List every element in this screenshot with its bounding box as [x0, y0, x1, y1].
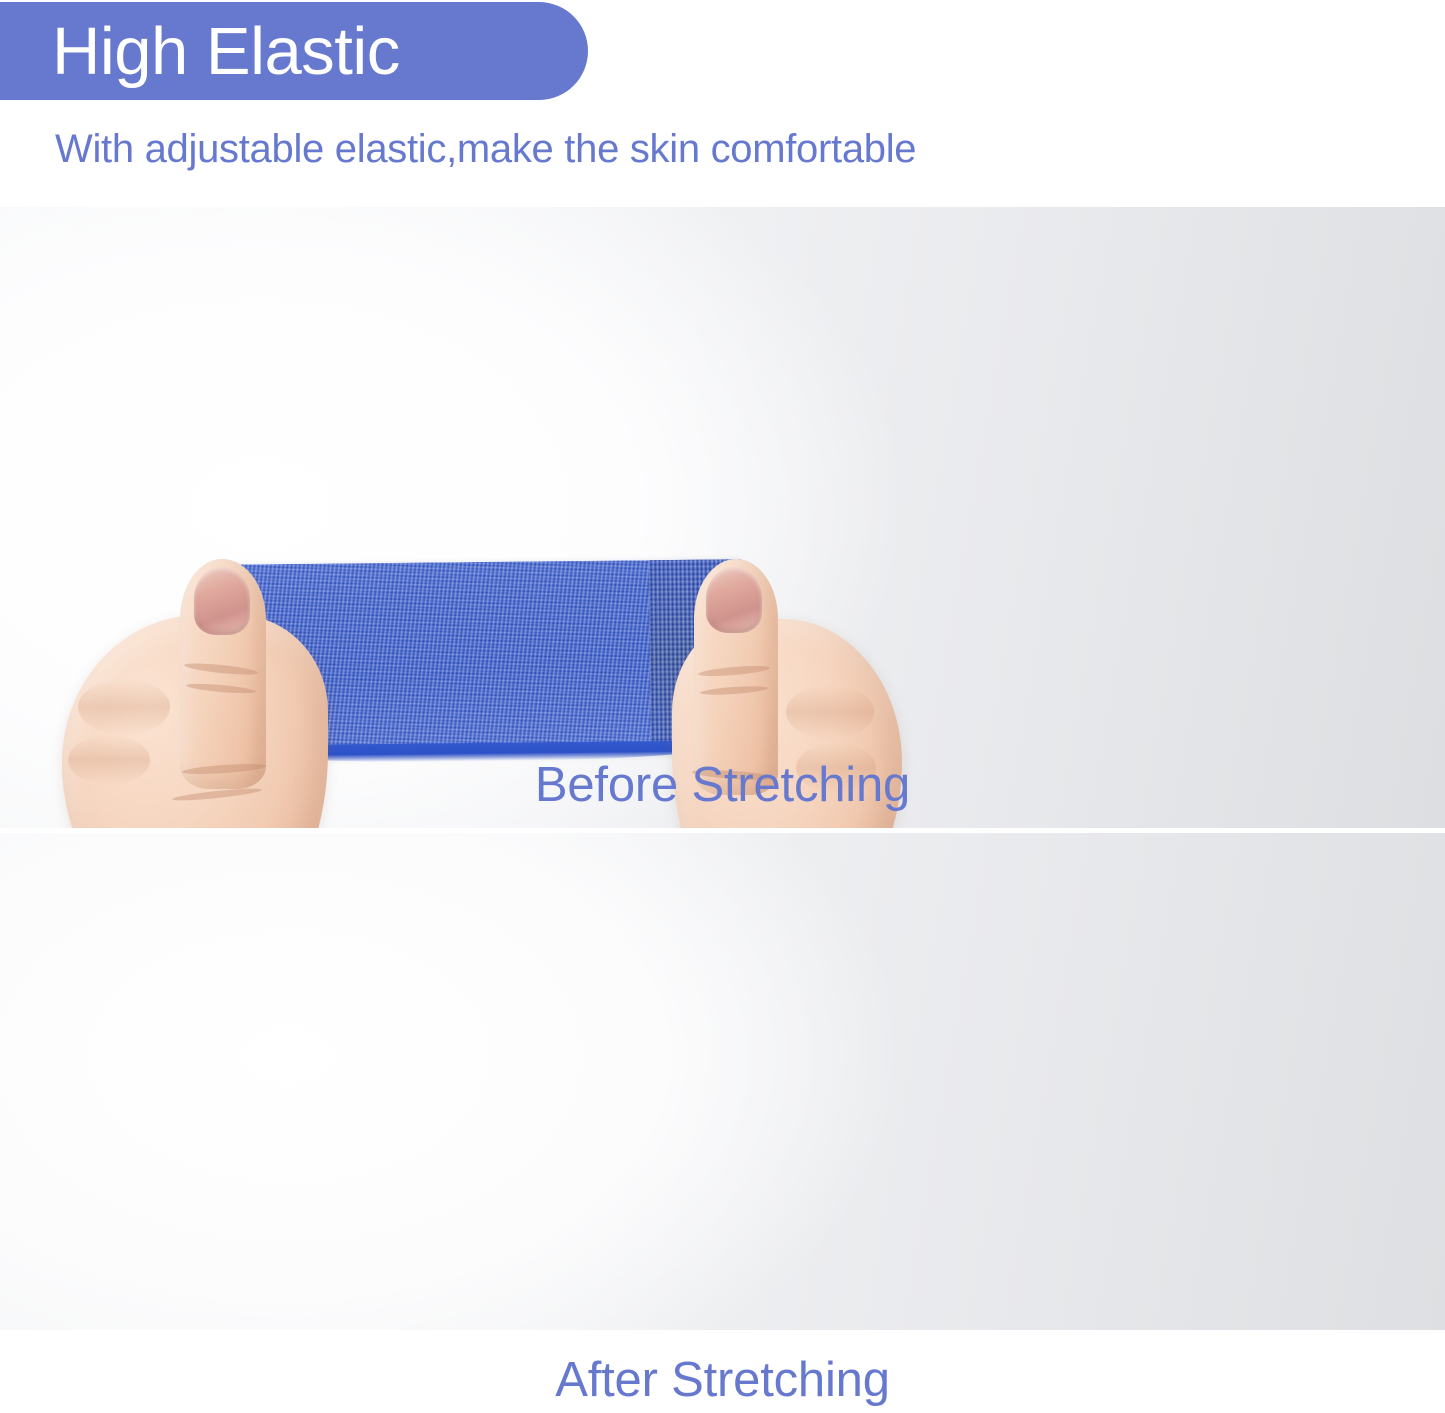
knuckle: [786, 685, 874, 739]
product-feature-image: High Elastic With adjustable elastic,mak…: [0, 0, 1445, 1413]
caption-before-stretching: Before Stretching: [0, 757, 1445, 813]
header-subtitle: With adjustable elastic,make the skin co…: [55, 126, 916, 172]
thumbnail: [706, 567, 762, 633]
page-title: High Elastic: [0, 18, 400, 85]
caption-after-stretching: After Stretching: [0, 1352, 1445, 1408]
photo-panel-after: [0, 833, 1445, 1330]
header-banner: High Elastic: [0, 2, 588, 100]
knuckle: [78, 679, 170, 735]
photo-panel-before: [0, 207, 1445, 828]
thumbnail: [194, 567, 250, 635]
